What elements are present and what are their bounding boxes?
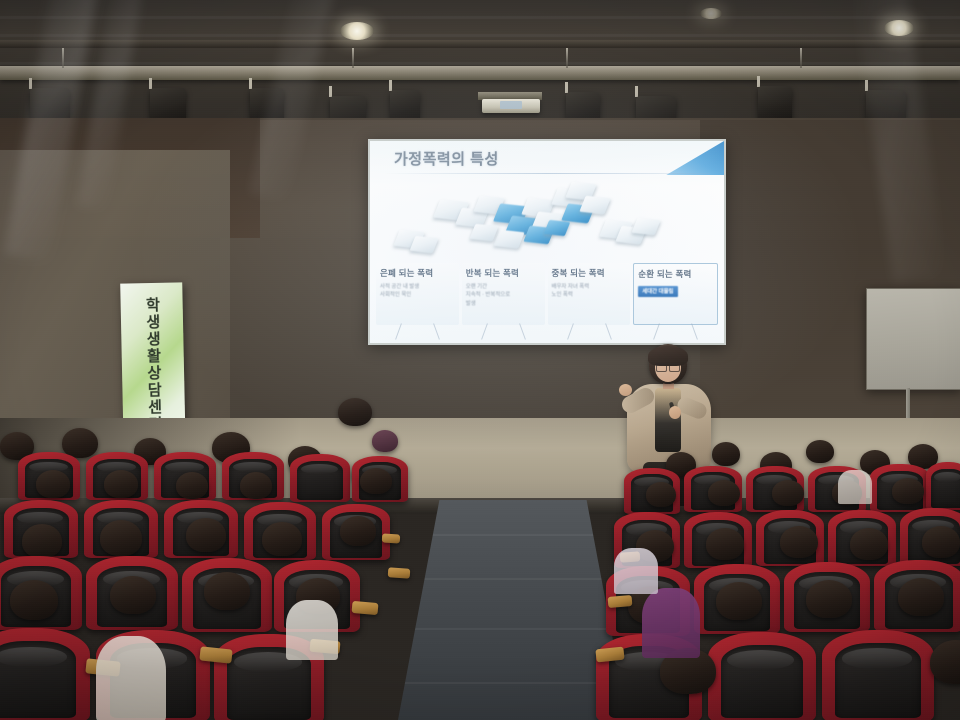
projection-screen: 가정폭력의 특성 (368, 139, 726, 345)
glasses-icon (656, 363, 680, 370)
audience-head (10, 580, 58, 620)
audience-head (706, 528, 744, 560)
audience-head (898, 578, 944, 616)
column-heading: 순환 되는 폭력 (638, 268, 714, 280)
wall-left-panel (0, 150, 230, 440)
column-bullet: 노인 폭력 (552, 291, 628, 299)
slide-title-divider (384, 173, 710, 174)
audience-body (838, 470, 872, 504)
audience-head (772, 480, 804, 506)
audience-head (712, 442, 740, 466)
audience-body (96, 636, 166, 720)
lighting-truss (0, 66, 960, 80)
audience-head (892, 478, 924, 504)
slide-columns: 은폐 되는 폭력 사적 공간 내 발생 사회적인 묵인 반복 되는 폭력 오랜 … (376, 263, 718, 325)
column-bullet: 지속적 · 반복적으로 (466, 291, 542, 299)
audience-head (104, 470, 138, 498)
audience-head (850, 528, 888, 560)
column-bullet: 배우자 자녀 폭력 (552, 283, 628, 291)
presenter-right-hand (669, 406, 681, 419)
column-bullets: 오랜 기간 지속적 · 반복적으로 발생 (466, 283, 542, 308)
truss-wire (800, 48, 802, 68)
column-heading: 반복 되는 폭력 (466, 267, 542, 279)
column-heading: 은폐 되는 폭력 (380, 267, 456, 279)
presenter-left-hand (619, 384, 632, 396)
audience-head (360, 468, 392, 494)
recessed-ceiling-light (700, 8, 722, 19)
audience-head (922, 526, 960, 558)
audience-body (286, 600, 338, 660)
audience-head (780, 526, 818, 558)
presentation-slide: 가정폭력의 특성 (370, 141, 724, 343)
whiteboard (866, 288, 960, 390)
audience-head (22, 524, 62, 558)
truss-wire (352, 48, 354, 68)
seat[interactable] (822, 630, 934, 720)
audience-head (716, 582, 762, 620)
audience-head (708, 480, 740, 506)
audience-body (642, 588, 700, 658)
seat[interactable] (290, 454, 350, 502)
truss-wire (62, 48, 64, 68)
slide-column: 중복 되는 폭력 배우자 자녀 폭력 노인 폭력 (548, 263, 631, 325)
audience-head (240, 472, 272, 499)
center-aisle (398, 500, 628, 720)
seat[interactable] (0, 628, 90, 720)
armrest (382, 533, 401, 543)
audience-head (36, 470, 70, 498)
audience-body (614, 548, 658, 594)
column-bullet: 사회적인 묵인 (380, 291, 456, 299)
column-bullet: 오랜 기간 (466, 283, 542, 291)
truss-wire (566, 48, 568, 68)
puzzle-graphic (378, 175, 716, 261)
audience-head (338, 398, 372, 426)
column-highlight-chip: 세대간 대물림 (638, 286, 677, 297)
seat[interactable] (926, 462, 960, 510)
column-bullet: 사적 공간 내 발생 (380, 283, 456, 291)
slide-column: 반복 되는 폭력 오랜 기간 지속적 · 반복적으로 발생 (462, 263, 545, 325)
lecture-hall-scene: 가정폭력의 특성 (0, 0, 960, 720)
recessed-ceiling-light (340, 22, 374, 40)
slide-column-highlighted: 순환 되는 폭력 세대간 대물림 (633, 263, 718, 325)
audience-head (646, 482, 676, 507)
ceiling-slat (0, 16, 960, 19)
column-connectors (376, 323, 718, 341)
seat[interactable] (708, 632, 816, 720)
armrest (388, 567, 411, 579)
audience-head (204, 572, 250, 610)
audience-head (110, 576, 156, 614)
slide-corner-accent (646, 141, 724, 175)
column-bullets: 사적 공간 내 발생 사회적인 묵인 (380, 283, 456, 300)
projector-lens (500, 101, 522, 109)
ceiling-slat (0, 34, 960, 37)
column-heading: 중복 되는 폭력 (552, 267, 628, 279)
presenter-inner-top (655, 388, 681, 452)
audience-head (100, 520, 142, 556)
audience-head (186, 518, 226, 552)
banner-text: 학생생활상담센터 (143, 297, 164, 433)
audience-head (930, 640, 960, 684)
audience-head (176, 472, 208, 499)
armrest (352, 601, 379, 615)
armrest (608, 595, 633, 608)
slide-column: 은폐 되는 폭력 사적 공간 내 발생 사회적인 묵인 (376, 263, 459, 325)
ceiling-slat (0, 62, 960, 65)
column-bullet: 발생 (466, 300, 542, 308)
column-bullets: 배우자 자녀 폭력 노인 폭력 (552, 283, 628, 300)
audience-head (262, 522, 302, 556)
slide-title: 가정폭력의 특성 (394, 148, 499, 169)
audience-head (340, 516, 376, 546)
ceiling-beam (0, 40, 960, 48)
audience-head (806, 440, 834, 463)
recessed-ceiling-light (884, 20, 914, 36)
audience-head (806, 580, 852, 618)
audience-head (372, 430, 398, 452)
